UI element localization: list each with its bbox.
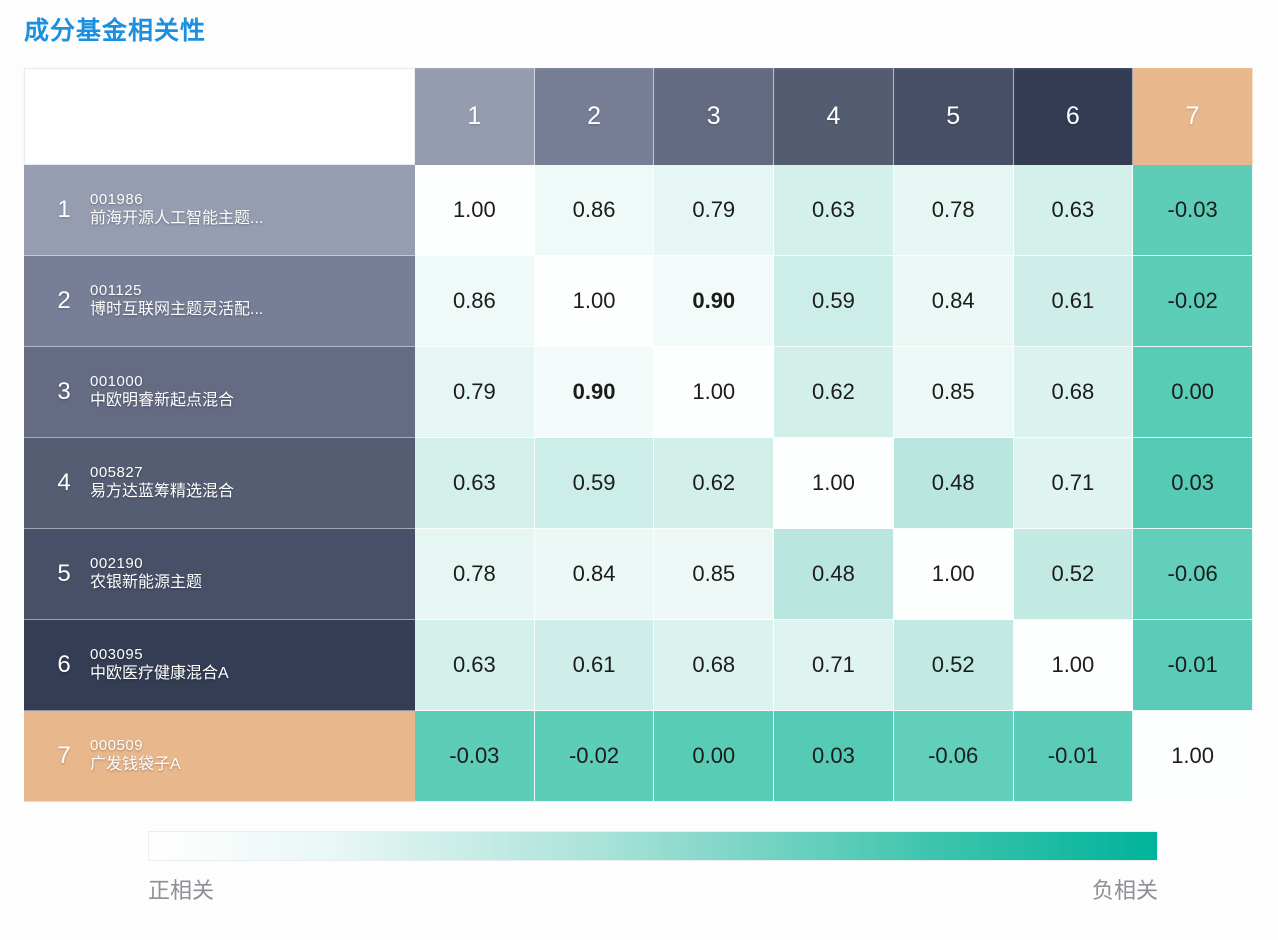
column-header-3[interactable]: 3 <box>654 68 774 165</box>
row-header-text: 000509广发钱袋子A <box>90 736 415 776</box>
matrix-cell-6-2[interactable]: 0.61 <box>535 620 655 711</box>
row-header-text: 002190农银新能源主题 <box>90 554 415 594</box>
matrix-cell-7-7[interactable]: 1.00 <box>1133 711 1253 802</box>
matrix-cell-3-3[interactable]: 1.00 <box>654 347 774 438</box>
fund-code: 001000 <box>90 372 415 391</box>
fund-code: 005827 <box>90 463 415 482</box>
matrix-cell-1-3[interactable]: 0.79 <box>654 165 774 256</box>
matrix-cell-6-7[interactable]: -0.01 <box>1133 620 1253 711</box>
matrix-corner-cell <box>24 68 415 165</box>
matrix-cell-4-7[interactable]: 0.03 <box>1133 438 1253 529</box>
matrix-cell-2-7[interactable]: -0.02 <box>1133 256 1253 347</box>
color-legend: 正相关 负相关 <box>148 831 1158 905</box>
matrix-cell-2-3[interactable]: 0.90 <box>654 256 774 347</box>
column-header-6[interactable]: 6 <box>1014 68 1134 165</box>
row-header-text: 001986前海开源人工智能主题... <box>90 190 415 230</box>
row-header-4[interactable]: 4005827易方达蓝筹精选混合 <box>24 438 415 529</box>
matrix-cell-7-1[interactable]: -0.03 <box>415 711 535 802</box>
row-header-text: 001125博时互联网主题灵活配... <box>90 281 415 321</box>
matrix-cell-7-5[interactable]: -0.06 <box>894 711 1014 802</box>
row-header-inner: 2001125博时互联网主题灵活配... <box>24 256 415 346</box>
matrix-cell-5-1[interactable]: 0.78 <box>415 529 535 620</box>
fund-code: 002190 <box>90 554 415 573</box>
matrix-cell-4-1[interactable]: 0.63 <box>415 438 535 529</box>
row-header-index: 7 <box>38 742 90 770</box>
matrix-cell-1-2[interactable]: 0.86 <box>535 165 655 256</box>
matrix-cell-6-6[interactable]: 1.00 <box>1014 620 1134 711</box>
fund-code: 000509 <box>90 736 415 755</box>
matrix-cell-5-4[interactable]: 0.48 <box>774 529 894 620</box>
row-header-inner: 4005827易方达蓝筹精选混合 <box>24 438 415 528</box>
matrix-cell-2-1[interactable]: 0.86 <box>415 256 535 347</box>
matrix-cell-3-5[interactable]: 0.85 <box>894 347 1014 438</box>
matrix-cell-2-2[interactable]: 1.00 <box>535 256 655 347</box>
matrix-cell-1-4[interactable]: 0.63 <box>774 165 894 256</box>
fund-code: 001125 <box>90 281 415 300</box>
matrix-cell-2-5[interactable]: 0.84 <box>894 256 1014 347</box>
matrix-cell-3-6[interactable]: 0.68 <box>1014 347 1134 438</box>
fund-name: 易方达蓝筹精选混合 <box>90 482 415 502</box>
matrix-cell-5-3[interactable]: 0.85 <box>654 529 774 620</box>
table-row: 5002190农银新能源主题0.780.840.850.481.000.52-0… <box>24 529 1253 620</box>
fund-name: 前海开源人工智能主题... <box>90 209 415 229</box>
matrix-cell-7-3[interactable]: 0.00 <box>654 711 774 802</box>
matrix-cell-4-6[interactable]: 0.71 <box>1014 438 1134 529</box>
row-header-index: 4 <box>38 469 90 497</box>
row-header-inner: 3001000中欧明睿新起点混合 <box>24 347 415 437</box>
matrix-cell-6-1[interactable]: 0.63 <box>415 620 535 711</box>
table-row: 2001125博时互联网主题灵活配...0.861.000.900.590.84… <box>24 256 1253 347</box>
matrix-cell-5-2[interactable]: 0.84 <box>535 529 655 620</box>
fund-name: 广发钱袋子A <box>90 755 415 775</box>
table-row: 3001000中欧明睿新起点混合0.790.901.000.620.850.68… <box>24 347 1253 438</box>
row-header-7[interactable]: 7000509广发钱袋子A <box>24 711 415 802</box>
matrix-cell-2-4[interactable]: 0.59 <box>774 256 894 347</box>
page-title: 成分基金相关性 <box>24 11 206 47</box>
row-header-text: 001000中欧明睿新起点混合 <box>90 372 415 412</box>
row-header-inner: 6003095中欧医疗健康混合A <box>24 620 415 710</box>
row-header-5[interactable]: 5002190农银新能源主题 <box>24 529 415 620</box>
legend-label-negative: 负相关 <box>1092 873 1158 905</box>
matrix-header-row: 1 2 3 4 5 6 7 <box>24 68 1253 165</box>
matrix-cell-3-7[interactable]: 0.00 <box>1133 347 1253 438</box>
row-header-index: 1 <box>38 196 90 224</box>
matrix-cell-1-5[interactable]: 0.78 <box>894 165 1014 256</box>
table-row: 6003095中欧医疗健康混合A0.630.610.680.710.521.00… <box>24 620 1253 711</box>
row-header-1[interactable]: 1001986前海开源人工智能主题... <box>24 165 415 256</box>
matrix-cell-6-4[interactable]: 0.71 <box>774 620 894 711</box>
row-header-inner: 7000509广发钱袋子A <box>24 711 415 801</box>
matrix-cell-6-5[interactable]: 0.52 <box>894 620 1014 711</box>
row-header-inner: 5002190农银新能源主题 <box>24 529 415 619</box>
fund-code: 001986 <box>90 190 415 209</box>
table-row: 7000509广发钱袋子A-0.03-0.020.000.03-0.06-0.0… <box>24 711 1253 802</box>
row-header-index: 2 <box>38 287 90 315</box>
matrix-cell-2-6[interactable]: 0.61 <box>1014 256 1134 347</box>
matrix-cell-7-4[interactable]: 0.03 <box>774 711 894 802</box>
row-header-3[interactable]: 3001000中欧明睿新起点混合 <box>24 347 415 438</box>
fund-name: 中欧明睿新起点混合 <box>90 391 415 411</box>
matrix-cell-3-2[interactable]: 0.90 <box>535 347 655 438</box>
row-header-text: 005827易方达蓝筹精选混合 <box>90 463 415 503</box>
column-header-7[interactable]: 7 <box>1133 68 1253 165</box>
row-header-text: 003095中欧医疗健康混合A <box>90 645 415 685</box>
matrix-cell-5-5[interactable]: 1.00 <box>894 529 1014 620</box>
column-header-2[interactable]: 2 <box>535 68 655 165</box>
legend-label-positive: 正相关 <box>148 873 214 905</box>
row-header-inner: 1001986前海开源人工智能主题... <box>24 165 415 255</box>
matrix-cell-1-1[interactable]: 1.00 <box>415 165 535 256</box>
matrix-cell-5-7[interactable]: -0.06 <box>1133 529 1253 620</box>
column-header-4[interactable]: 4 <box>774 68 894 165</box>
matrix-cell-1-6[interactable]: 0.63 <box>1014 165 1134 256</box>
matrix-body: 1 2 3 4 5 6 7 1001986前海开源人工智能主题...1.000.… <box>24 68 1253 802</box>
matrix-cell-4-4[interactable]: 1.00 <box>774 438 894 529</box>
matrix-cell-4-2[interactable]: 0.59 <box>535 438 655 529</box>
matrix-cell-7-2[interactable]: -0.02 <box>535 711 655 802</box>
legend-labels: 正相关 负相关 <box>148 873 1158 905</box>
row-header-index: 3 <box>38 378 90 406</box>
row-header-index: 5 <box>38 560 90 588</box>
table-row: 4005827易方达蓝筹精选混合0.630.590.621.000.480.71… <box>24 438 1253 529</box>
row-header-6[interactable]: 6003095中欧医疗健康混合A <box>24 620 415 711</box>
matrix-cell-5-6[interactable]: 0.52 <box>1014 529 1134 620</box>
matrix-cell-7-6[interactable]: -0.01 <box>1014 711 1134 802</box>
table-row: 1001986前海开源人工智能主题...1.000.860.790.630.78… <box>24 165 1253 256</box>
matrix-cell-6-3[interactable]: 0.68 <box>654 620 774 711</box>
matrix-cell-1-7[interactable]: -0.03 <box>1133 165 1253 256</box>
fund-code: 003095 <box>90 645 415 664</box>
fund-name: 中欧医疗健康混合A <box>90 664 415 684</box>
matrix-cell-4-3[interactable]: 0.62 <box>654 438 774 529</box>
matrix-cell-3-1[interactable]: 0.79 <box>415 347 535 438</box>
column-header-5[interactable]: 5 <box>894 68 1014 165</box>
fund-name: 博时互联网主题灵活配... <box>90 300 415 320</box>
correlation-matrix: 1 2 3 4 5 6 7 1001986前海开源人工智能主题...1.000.… <box>24 68 1253 802</box>
column-header-1[interactable]: 1 <box>415 68 535 165</box>
fund-name: 农银新能源主题 <box>90 573 415 593</box>
row-header-index: 6 <box>38 651 90 679</box>
matrix-cell-4-5[interactable]: 0.48 <box>894 438 1014 529</box>
matrix-cell-3-4[interactable]: 0.62 <box>774 347 894 438</box>
legend-gradient-bar <box>148 831 1158 861</box>
row-header-2[interactable]: 2001125博时互联网主题灵活配... <box>24 256 415 347</box>
